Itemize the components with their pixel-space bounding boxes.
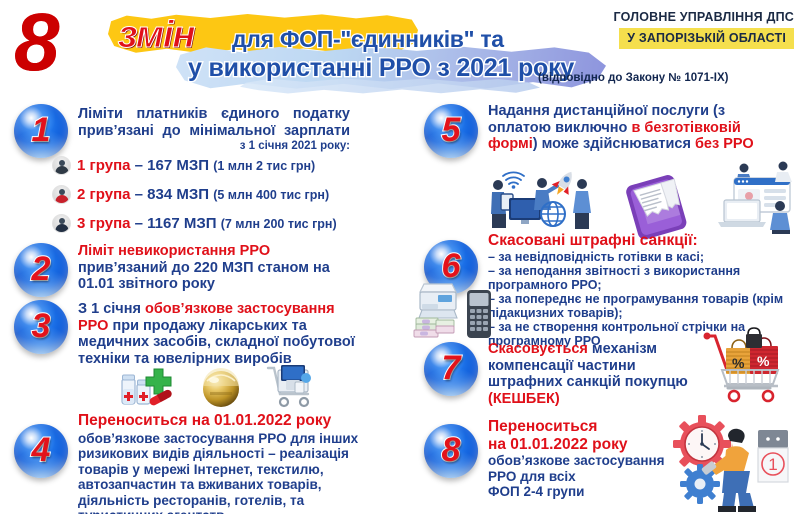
item-5-body: Надання дистанційної послуги (з оплатою … xyxy=(488,103,788,153)
item-7-text: Скасовується механізм компенсації частин… xyxy=(488,341,708,407)
svg-text:%: % xyxy=(757,353,770,369)
bubble-number-text: 5 xyxy=(442,113,461,147)
item-number-bubble-1: 1 xyxy=(14,104,68,158)
item-3-prefix: З 1 січня xyxy=(78,301,145,317)
bubble-number-text: 4 xyxy=(32,433,51,467)
item-5-text: Надання дистанційної послуги (з оплатою … xyxy=(488,103,788,153)
group-2-text: 2 група – 834 МЗП (5 млн 400 тис грн) xyxy=(77,186,329,203)
item-6-bullet-2: – за неподання звітності з використання … xyxy=(488,264,794,292)
item-6-bullet-1: – за невідповідність готівки в касі; xyxy=(488,250,794,264)
laptop-social-illustration xyxy=(716,160,800,234)
item-2-blue-line-1: прив’язаний до 220 МЗП станом на xyxy=(78,260,358,277)
item-2-red-line: Ліміт невикористання РРО xyxy=(78,243,358,260)
item-4-red-line: Переноситься на 01.01.2022 року xyxy=(78,412,370,430)
gold-perfume-sphere-icon xyxy=(198,364,244,410)
item-number-bubble-7: 7 xyxy=(424,342,478,396)
headline-line-2: у використанні РРО з 2021 року xyxy=(188,54,574,82)
group-row-1: 1 група – 167 МЗП (1 млн 2 тис грн) xyxy=(52,156,315,175)
bubble-number-text: 7 xyxy=(442,351,461,385)
person-male-avatar-icon xyxy=(52,156,71,175)
item-4-text: Переноситься на 01.01.2022 року обов’язк… xyxy=(78,412,370,514)
headline-big-number: 8 xyxy=(14,2,58,84)
item-1-line-2: прив’язані до мінімальної зарплати xyxy=(78,123,350,140)
item-2-text: Ліміт невикористання РРО прив’язаний до … xyxy=(78,243,358,293)
item-6-bullet-3: – за попереднє не програмування товарів … xyxy=(488,292,794,320)
item-7-red-word: Скасовується xyxy=(488,341,588,357)
clock-gear-worker-calendar-illustration: 1 xyxy=(672,414,796,512)
svg-text:%: % xyxy=(732,355,745,371)
group-3-text: 3 група – 1167 МЗП (7 млн 200 тис грн) xyxy=(77,215,337,232)
law-reference-note: (відповідно до Закону № 1071-IX) xyxy=(538,72,729,84)
headline-line-1: для ФОП-"єдинників" та xyxy=(232,26,504,52)
person-female-avatar-icon xyxy=(52,185,71,204)
pos-terminal-illustration xyxy=(462,288,496,340)
item-number-bubble-3: 3 xyxy=(14,300,68,354)
headline-changes-word: змін xyxy=(118,16,195,54)
item-1-text: Ліміти платників єдиного податку прив’яз… xyxy=(78,106,350,153)
people-wifi-rocket-globe-illustration xyxy=(487,168,599,230)
bubble-number-text: 1 xyxy=(32,113,51,147)
item-3-rest: при продажу лікарських та медичних засоб… xyxy=(78,318,355,367)
infographic-page: 8 змін для ФОП-"єдинників" та у використ… xyxy=(0,0,800,514)
bubble-number-text: 2 xyxy=(32,252,51,286)
group-row-2: 2 група – 834 МЗП (5 млн 400 тис грн) xyxy=(52,185,329,204)
bubble-number-text: 3 xyxy=(32,309,51,343)
item-7-body: Скасовується механізм компенсації частин… xyxy=(488,341,708,391)
item-1-line-3: з 1 січня 2021 року: xyxy=(78,140,350,153)
group-row-3: 3 група – 1167 МЗП (7 млн 200 тис грн) xyxy=(52,214,337,233)
electronics-cart-icon xyxy=(262,362,320,412)
item-6-title: Скасовані штрафні санкції: xyxy=(488,232,794,250)
item-5-segment-3: ) може здійснюватися xyxy=(533,136,695,152)
item-number-bubble-8: 8 xyxy=(424,424,478,478)
medicine-vials-icon xyxy=(118,365,174,409)
svg-text:1: 1 xyxy=(768,455,777,474)
item-3-body: З 1 січня обов’язкове застосування РРО п… xyxy=(78,301,366,367)
item-7-cashback: (КЕШБЕК) xyxy=(488,391,708,408)
item-4-body: обов’язкове застосування РРО для інших р… xyxy=(78,431,370,514)
item-2-blue-line-2: 01.01 звітного року xyxy=(78,276,358,293)
organization-name: ГОЛОВНЕ УПРАВЛІННЯ ДПС xyxy=(613,10,794,24)
person-male-avatar-icon xyxy=(52,214,71,233)
phone-receipt-illustration xyxy=(608,172,712,232)
header: 8 змін для ФОП-"єдинників" та у використ… xyxy=(0,0,800,96)
group-1-text: 1 група – 167 МЗП (1 млн 2 тис грн) xyxy=(77,157,315,174)
shopping-cart-discount-illustration: % % xyxy=(702,326,794,404)
bubble-number-text: 8 xyxy=(442,433,461,467)
item-number-bubble-4: 4 xyxy=(14,424,68,478)
item-3-text: З 1 січня обов’язкове застосування РРО п… xyxy=(78,301,366,367)
item-1-line-1: Ліміти платників єдиного податку xyxy=(78,106,350,123)
item-5-segment-4: без РРО xyxy=(695,136,754,152)
item-number-bubble-2: 2 xyxy=(14,243,68,297)
organization-region-badge: У ЗАПОРІЗЬКІЙ ОБЛАСТІ xyxy=(619,28,794,49)
item-number-bubble-5: 5 xyxy=(424,104,478,158)
